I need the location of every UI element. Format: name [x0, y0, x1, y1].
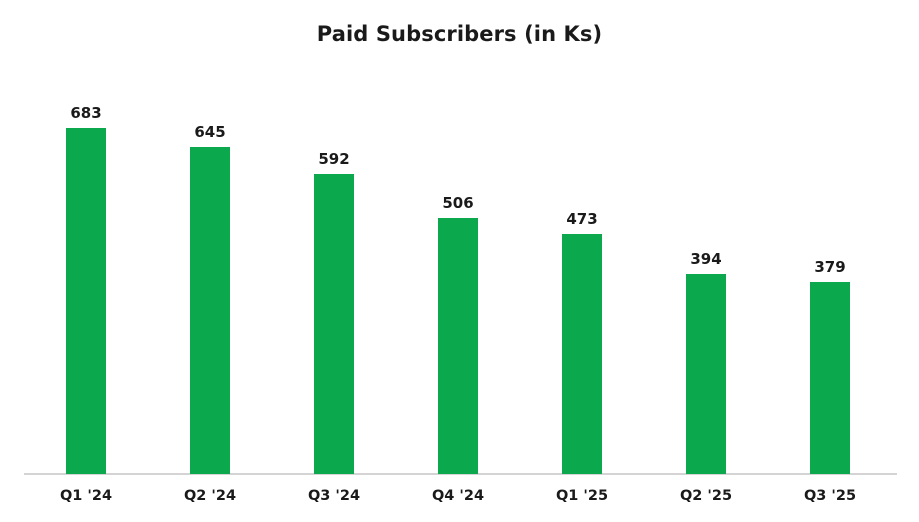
bar-group: 683Q1 '24 [66, 0, 106, 522]
bar-group: 394Q2 '25 [686, 0, 726, 522]
bar-value-label: 379 [788, 258, 872, 276]
bar[interactable] [66, 128, 106, 474]
bar-value-label: 473 [540, 210, 624, 228]
category-label: Q2 '24 [148, 488, 272, 504]
bar-value-label: 506 [416, 194, 500, 212]
category-label: Q2 '25 [644, 488, 768, 504]
bar-value-label: 592 [292, 150, 376, 168]
category-label: Q1 '24 [24, 488, 148, 504]
bar-group: 506Q4 '24 [438, 0, 478, 522]
bar[interactable] [190, 147, 230, 474]
category-label: Q4 '24 [396, 488, 520, 504]
bar[interactable] [438, 218, 478, 474]
bar-group: 592Q3 '24 [314, 0, 354, 522]
bar-group: 645Q2 '24 [190, 0, 230, 522]
category-label: Q3 '25 [768, 488, 892, 504]
bar-group: 473Q1 '25 [562, 0, 602, 522]
bar-group: 379Q3 '25 [810, 0, 850, 522]
category-label: Q3 '24 [272, 488, 396, 504]
category-label: Q1 '25 [520, 488, 644, 504]
bar-chart: Paid Subscribers (in Ks) 683Q1 '24645Q2 … [0, 0, 919, 522]
bar[interactable] [562, 234, 602, 474]
bar[interactable] [810, 282, 850, 474]
bar-value-label: 645 [168, 123, 252, 141]
plot-area: 683Q1 '24645Q2 '24592Q3 '24506Q4 '24473Q… [0, 0, 919, 522]
bar[interactable] [686, 274, 726, 474]
bar-value-label: 683 [44, 104, 128, 122]
bar[interactable] [314, 174, 354, 474]
bar-value-label: 394 [664, 250, 748, 268]
